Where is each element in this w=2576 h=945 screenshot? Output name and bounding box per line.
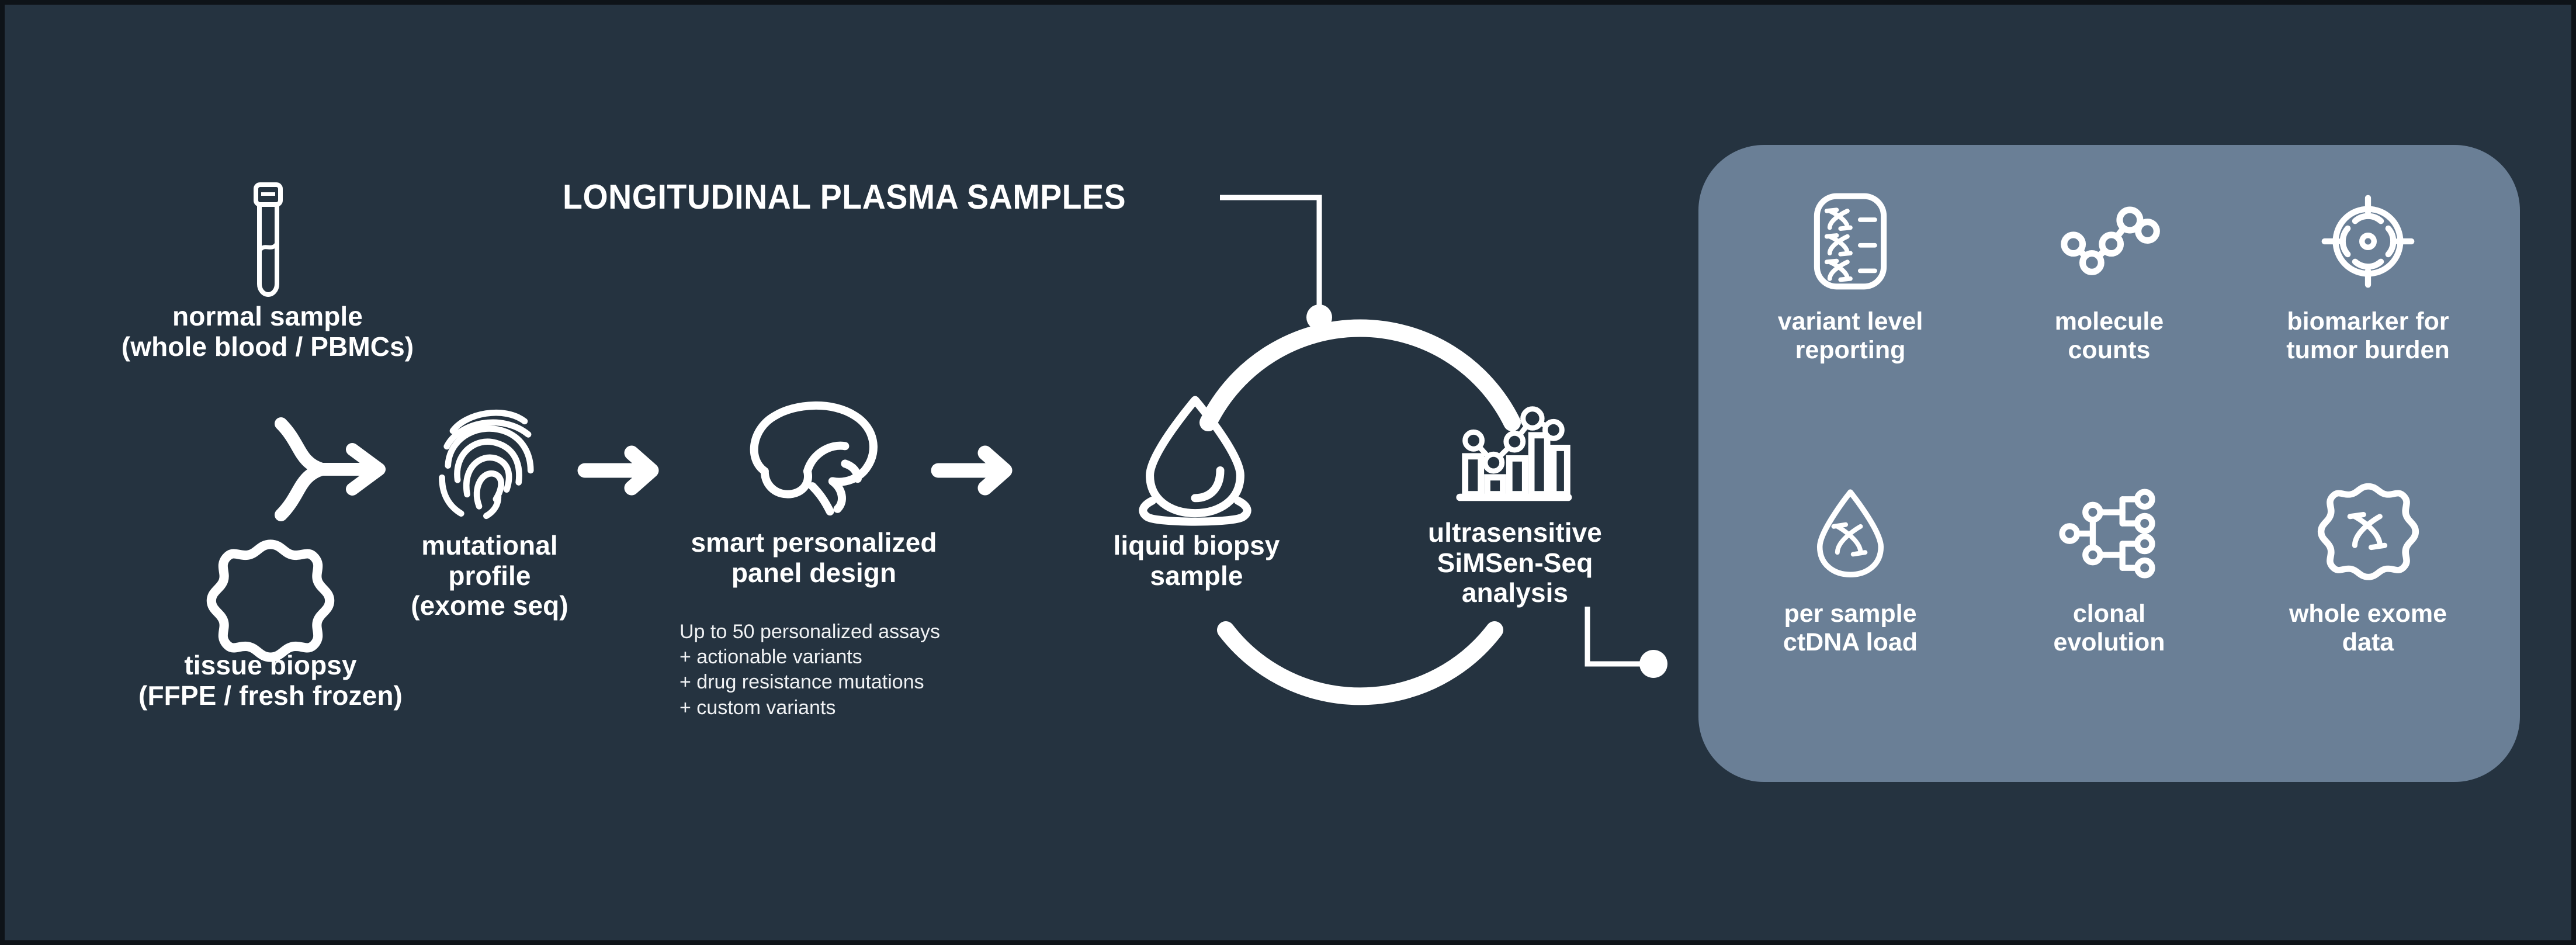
fingerprint-icon [430, 401, 550, 521]
result-label: biomarker for tumor burden [2239, 307, 2497, 365]
label-panel-design: smart personalized panel design [639, 528, 989, 588]
result-molecule-counts[interactable]: molecule counts [1981, 180, 2238, 365]
diagram-stage: LONGITUDINAL PLASMA SAMPLES normal sampl… [5, 5, 2571, 940]
result-label: clonal evolution [1981, 600, 2238, 657]
result-label: molecule counts [1981, 307, 2238, 365]
label-simsen-seq: ultrasensitive SiMSen-Seq analysis [1372, 518, 1658, 608]
cell-icon [203, 534, 338, 668]
panel-design-bullets: Up to 50 personalized assays + actionabl… [679, 619, 940, 721]
label-tissue-biopsy: tissue biopsy (FFPE / fresh frozen) [60, 650, 481, 711]
page-title: LONGITUDINAL PLASMA SAMPLES [563, 177, 1126, 217]
label-liquid-biopsy: liquid biopsy sample [1045, 531, 1348, 591]
brain-icon [735, 393, 890, 519]
branching-tree-icon [1981, 472, 2238, 595]
node-liquid-biopsy [1132, 392, 1258, 524]
result-variant-level-reporting[interactable]: variant level reporting [1722, 180, 1979, 365]
result-clonal-evolution[interactable]: clonal evolution [1981, 472, 2238, 657]
branch-merge-arrow-icon [271, 417, 405, 528]
line-chart-nodes-icon [1981, 180, 2238, 303]
arrow-right-icon [580, 443, 665, 499]
result-biomarker-tumor-burden[interactable]: biomarker for tumor burden [2239, 180, 2497, 365]
node-tissue-biopsy [203, 534, 338, 668]
scalloped-dna-badge-icon [2239, 472, 2497, 595]
crosshair-target-icon [2239, 180, 2497, 303]
node-mutational-profile [430, 401, 550, 521]
arrow-right-icon [934, 443, 1018, 499]
test-tube-icon [233, 180, 303, 309]
result-whole-exome-data[interactable]: whole exome data [2239, 472, 2497, 657]
dna-report-card-icon [1722, 180, 1979, 303]
node-simsen-seq [1457, 397, 1570, 503]
result-label: variant level reporting [1722, 307, 1979, 365]
result-label: per sample ctDNA load [1722, 600, 1979, 657]
results-panel: variant level reporting [1698, 145, 2520, 782]
droplet-icon [1132, 392, 1258, 524]
node-panel-design [735, 393, 890, 519]
label-mutational-profile: mutational profile (exome seq) [367, 531, 612, 621]
result-per-sample-ctdna-load[interactable]: per sample ctDNA load [1722, 472, 1979, 657]
droplet-dna-icon [1722, 472, 1979, 595]
diagram-canvas: LONGITUDINAL PLASMA SAMPLES normal sampl… [0, 0, 2576, 945]
result-label: whole exome data [2239, 600, 2497, 657]
node-normal-sample [233, 180, 303, 309]
label-normal-sample: normal sample (whole blood / PBMCs) [57, 302, 478, 362]
bar-line-chart-icon [1457, 397, 1570, 503]
